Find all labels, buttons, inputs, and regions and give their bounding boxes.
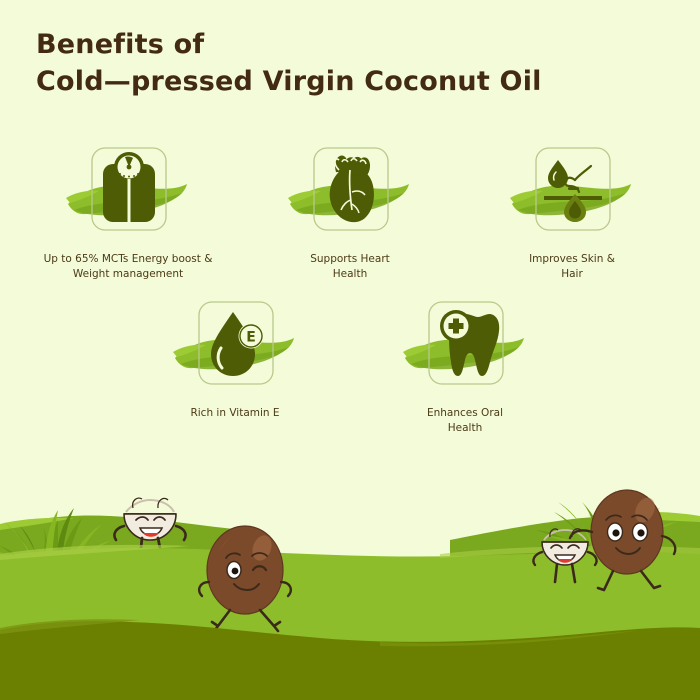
title-line-1: Benefits of xyxy=(36,26,656,63)
icon-wrapper xyxy=(518,140,626,240)
benefit-item-heart-health: Supports Heart Health xyxy=(239,140,461,282)
benefit-item-vitamin-e: E Rich in Vitamin E xyxy=(120,294,350,436)
icon-wrapper xyxy=(296,140,404,240)
title-line-2: Cold—pressed Virgin Coconut Oil xyxy=(36,63,656,100)
benefit-label: Up to 65% MCTs Energy boost & Weight man… xyxy=(44,252,213,282)
benefits-row-2: E Rich in Vitamin E xyxy=(0,294,700,436)
weighing-scale-icon xyxy=(90,146,168,232)
icon-wrapper xyxy=(74,140,182,240)
tooth-medical-cross-icon xyxy=(427,300,505,386)
benefits-grid: Up to 65% MCTs Energy boost & Weight man… xyxy=(0,140,700,436)
benefits-row-1: Up to 65% MCTs Energy boost & Weight man… xyxy=(0,140,700,282)
icon-wrapper xyxy=(411,294,519,394)
benefit-item-weight-management: Up to 65% MCTs Energy boost & Weight man… xyxy=(17,140,239,282)
benefit-label: Supports Heart Health xyxy=(310,252,390,282)
hair-follicle-droplet-icon xyxy=(534,146,612,232)
benefit-label: Enhances Oral Health xyxy=(427,406,503,436)
icon-wrapper: E xyxy=(181,294,289,394)
infographic-poster: Benefits of Cold—pressed Virgin Coconut … xyxy=(0,0,700,700)
benefit-item-oral-health: Enhances Oral Health xyxy=(350,294,580,436)
bottom-illustration-scene xyxy=(0,470,700,700)
benefit-label: Rich in Vitamin E xyxy=(190,406,279,421)
svg-text:E: E xyxy=(246,330,256,346)
oil-droplet-vitamin-e-icon: E xyxy=(197,300,275,386)
benefit-label: Improves Skin & Hair xyxy=(529,252,615,282)
anatomical-heart-icon xyxy=(312,146,390,232)
benefit-item-skin-hair: Improves Skin & Hair xyxy=(461,140,683,282)
page-title: Benefits of Cold—pressed Virgin Coconut … xyxy=(36,26,656,100)
